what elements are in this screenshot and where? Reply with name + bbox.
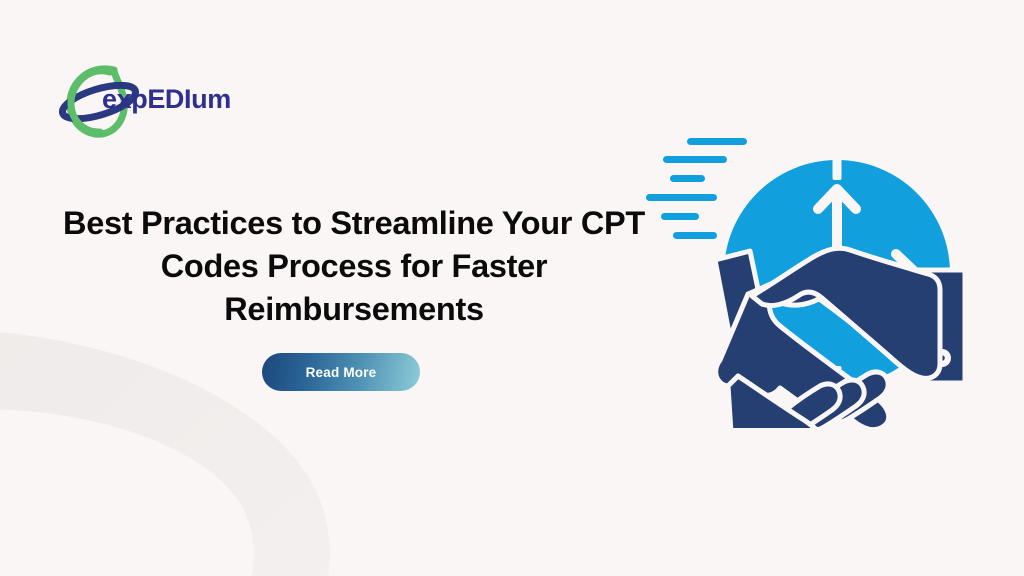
blog-banner: expEDIum Best Practices to Streamline Yo… — [0, 0, 1024, 576]
brand-logo[interactable]: expEDIum — [58, 58, 233, 140]
read-more-label: Read More — [306, 365, 377, 380]
speed-lines-icon — [646, 138, 747, 239]
read-more-button[interactable]: Read More — [262, 353, 420, 391]
logo-wordmark: expEDIum — [102, 84, 231, 115]
page-title: Best Practices to Streamline Your CPT Co… — [52, 202, 656, 331]
clock-handshake-illustration — [640, 108, 980, 428]
